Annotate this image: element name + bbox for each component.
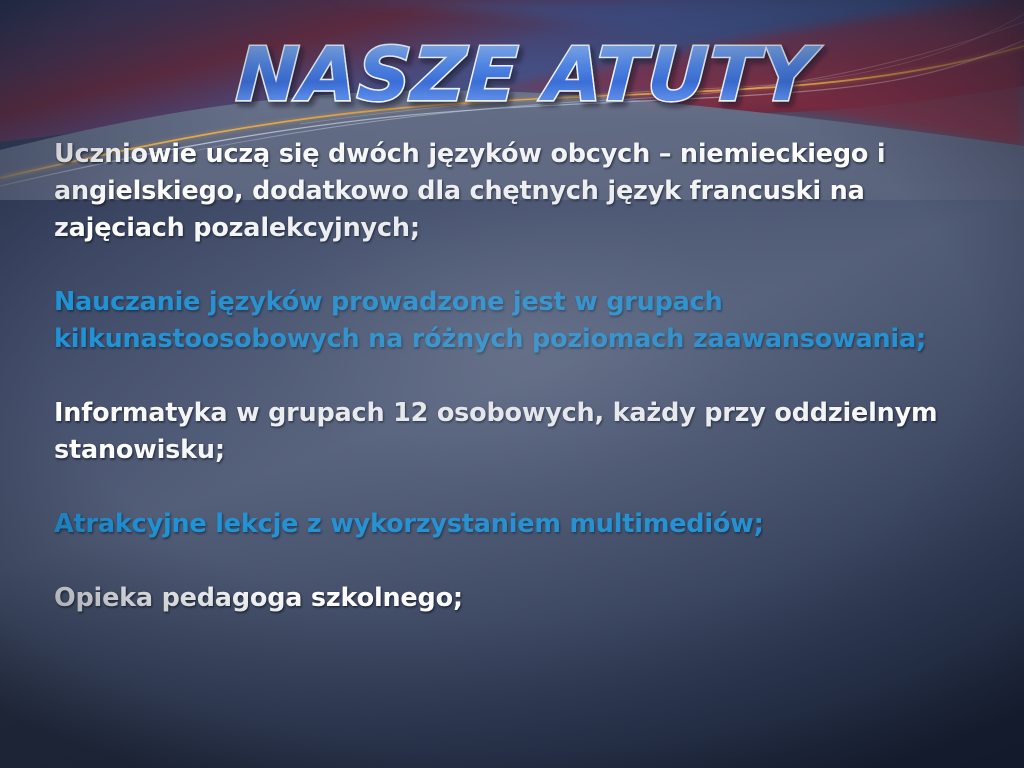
slide-body-content: Uczniowie uczą się dwóch języków obcych …: [54, 136, 966, 617]
slide-title-text-top: NASZE ATUTY: [234, 32, 822, 118]
bullet-paragraph-5: Opieka pedagoga szkolnego;: [54, 580, 966, 617]
presentation-slide: NASZE ATUTY NASZE ATUTY Uczniowie uczą s…: [0, 0, 1024, 768]
bullet-paragraph-3: Informatyka w grupach 12 osobowych, każd…: [54, 395, 966, 469]
slide-title-outline-layer: NASZE ATUTY NASZE ATUTY: [0, 30, 1024, 126]
bullet-paragraph-2: Nauczanie języków prowadzone jest w grup…: [54, 284, 966, 358]
bullet-paragraph-1: Uczniowie uczą się dwóch języków obcych …: [54, 136, 966, 247]
slide-title-wrapper: NASZE ATUTY NASZE ATUTY: [0, 30, 1024, 126]
bullet-paragraph-4: Atrakcyjne lekcje z wykorzystaniem multi…: [54, 506, 966, 543]
